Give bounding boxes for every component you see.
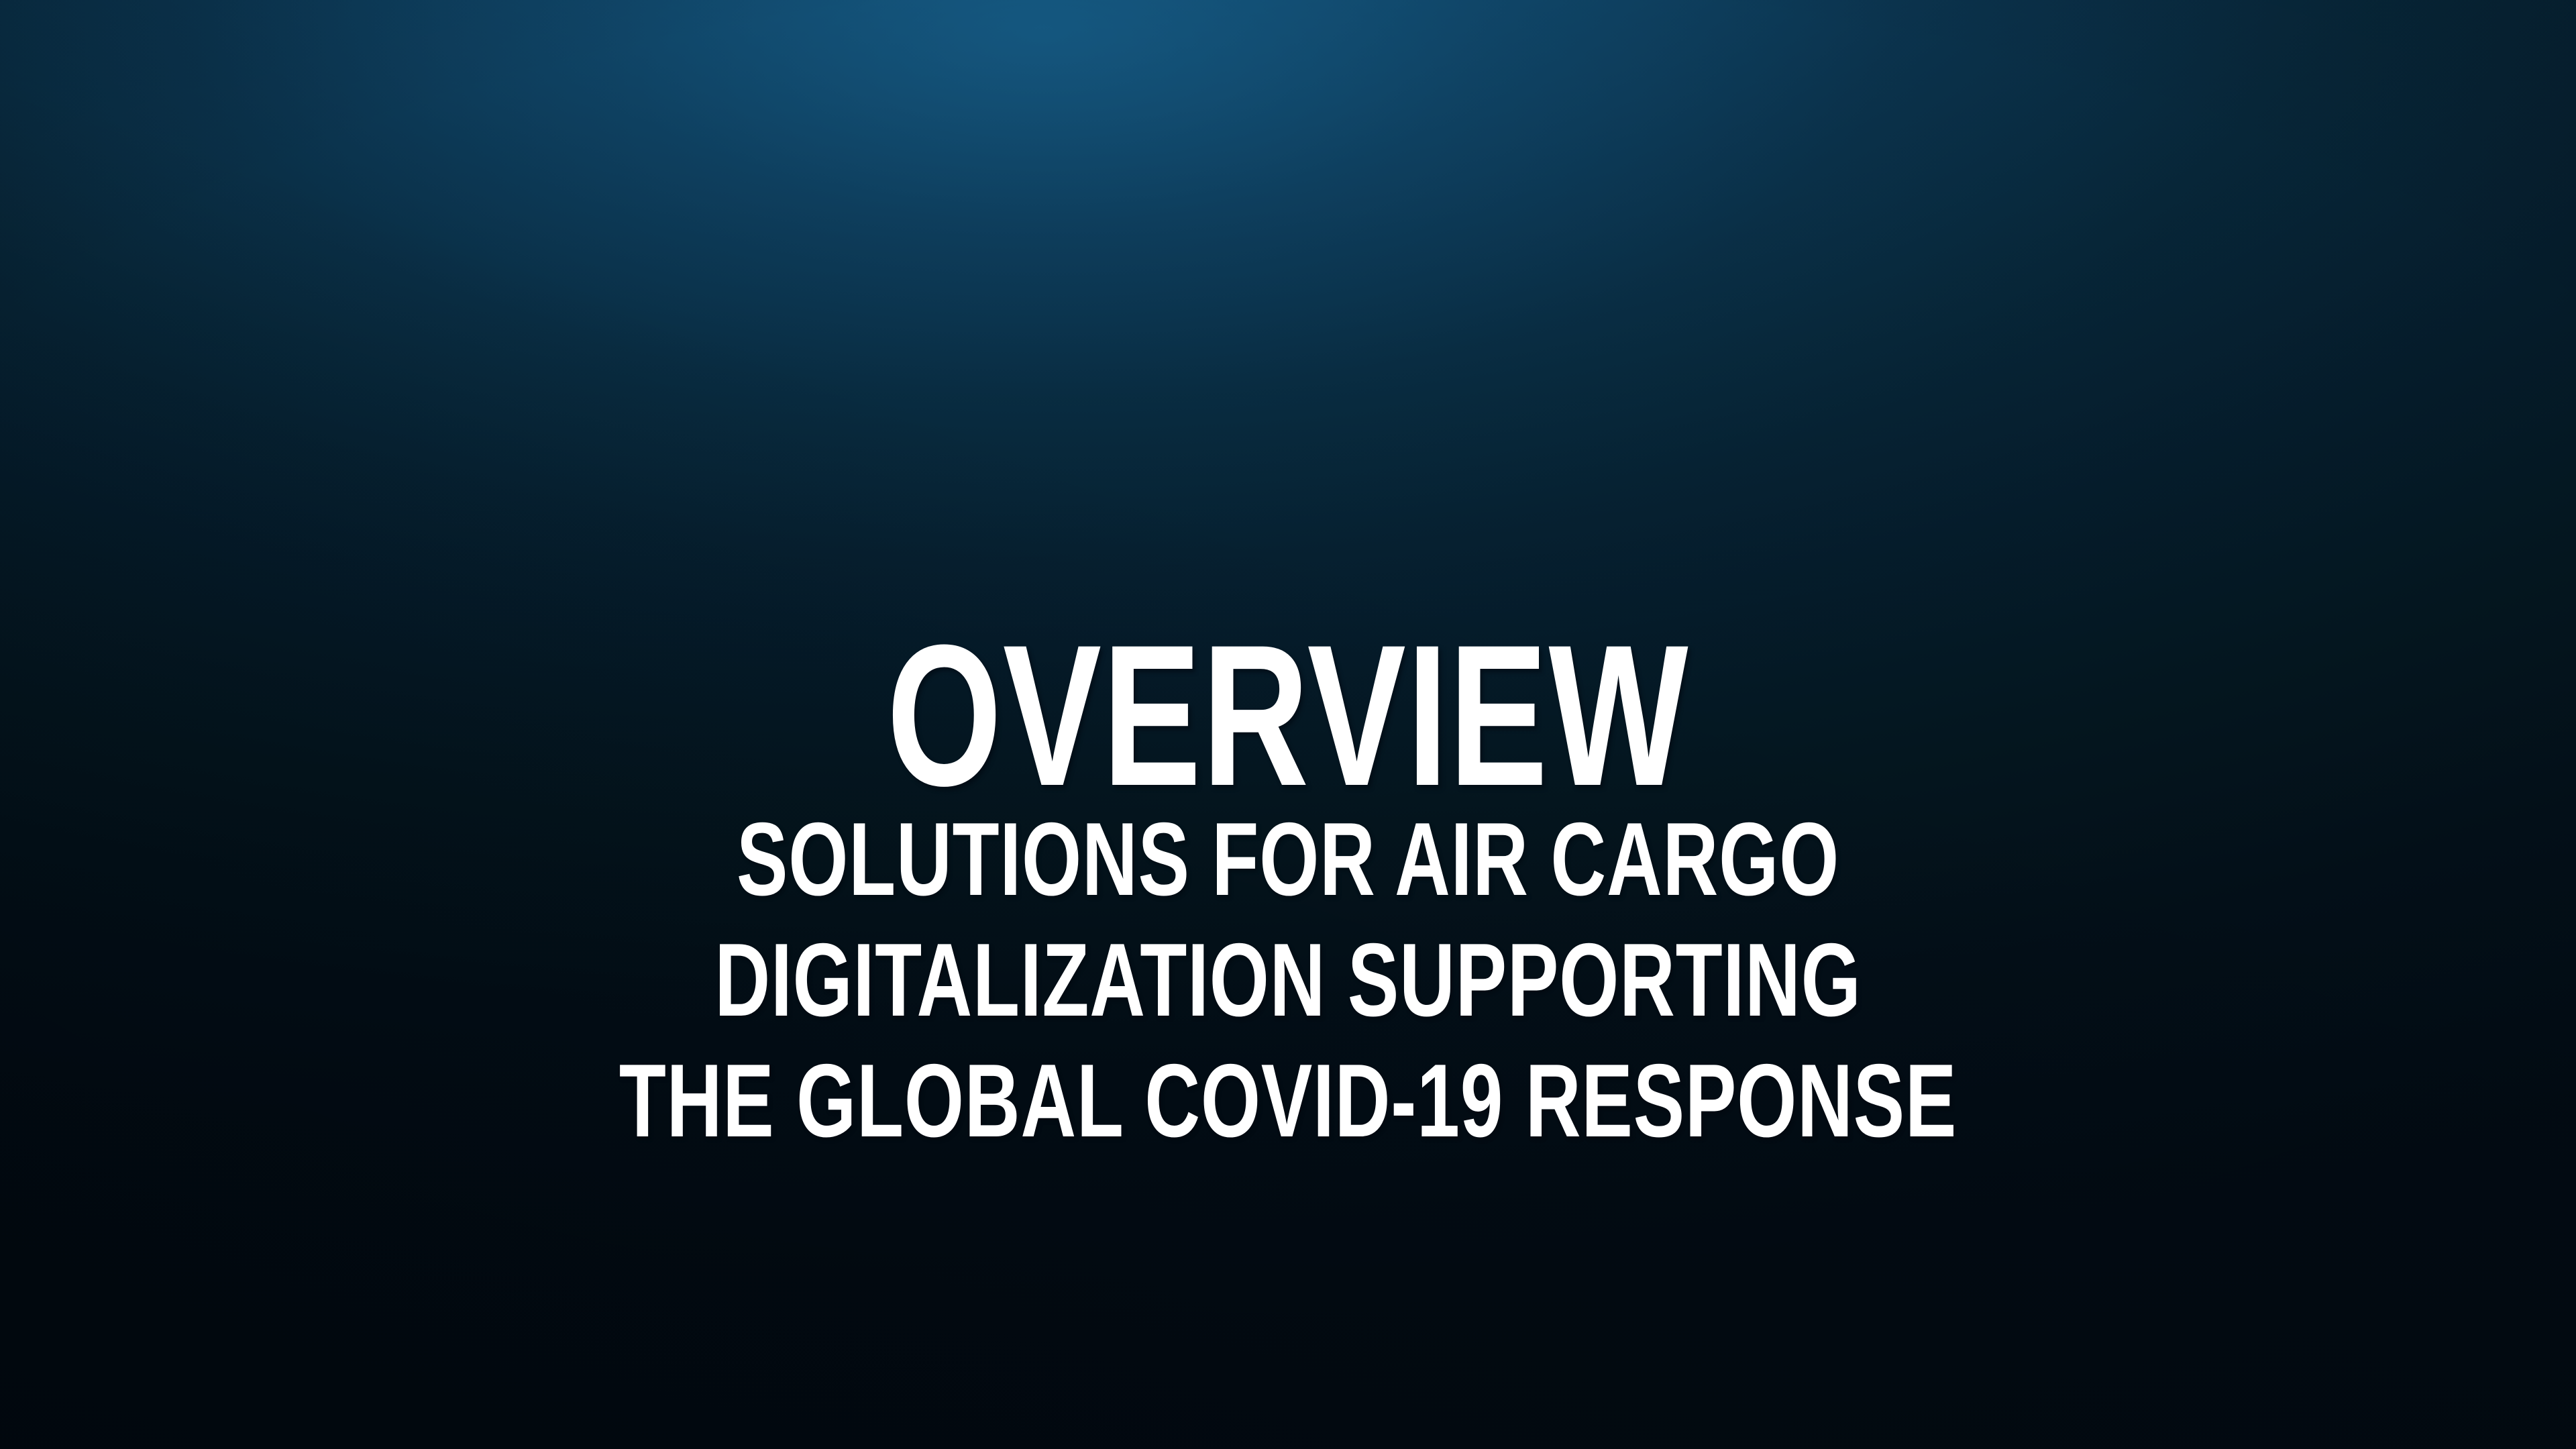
subtitle-line-2: DIGITALIZATION SUPPORTING [335,920,2241,1040]
subtitle-line-1: SOLUTIONS FOR AIR CARGO [335,799,2241,920]
subtitle-line-3: THE GLOBAL COVID-19 RESPONSE [335,1040,2241,1161]
presentation-slide: OVERVIEW SOLUTIONS FOR AIR CARGO DIGITAL… [0,0,2576,1449]
slide-content: OVERVIEW SOLUTIONS FOR AIR CARGO DIGITAL… [0,0,2576,1449]
slide-title: OVERVIEW [341,614,2235,816]
slide-subtitle: SOLUTIONS FOR AIR CARGO DIGITALIZATION S… [335,799,2241,1161]
